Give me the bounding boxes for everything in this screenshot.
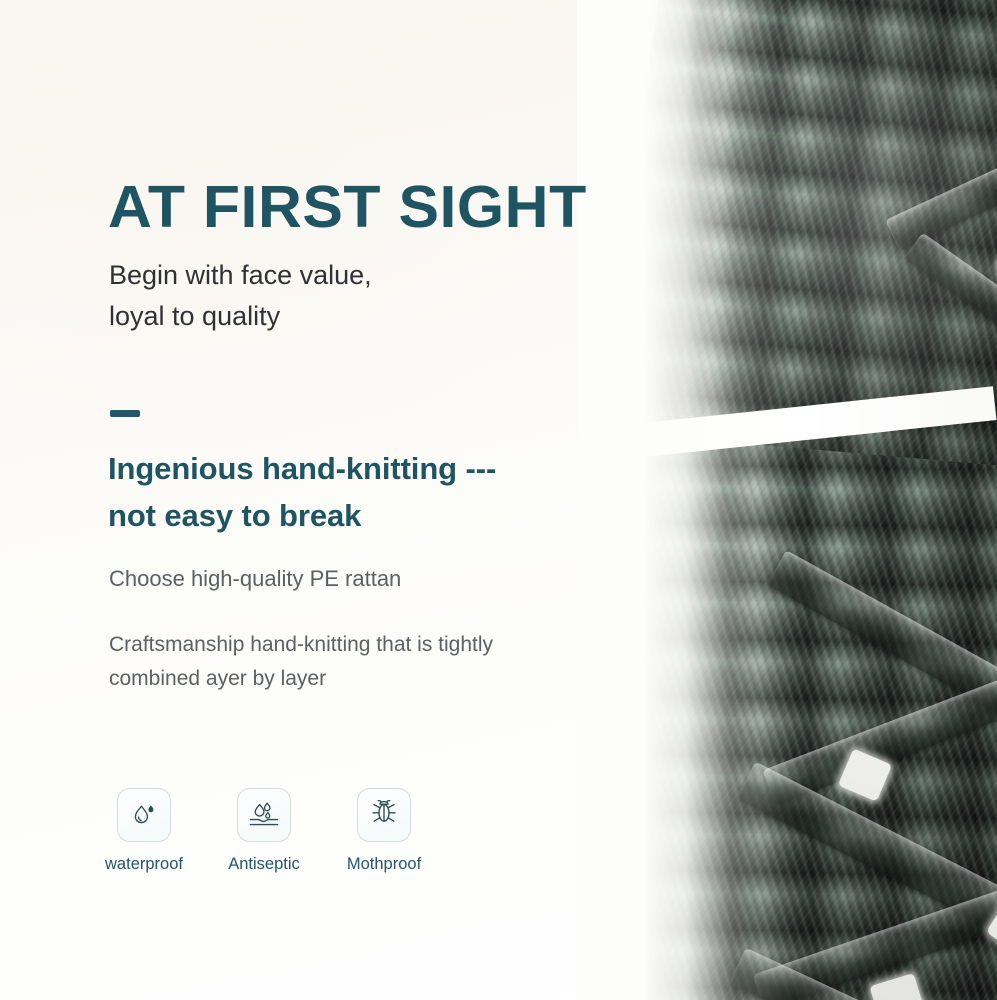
feature-badge-list: waterproof Antiseptic xyxy=(108,788,420,874)
feature-icon-box xyxy=(237,788,291,842)
feature-badge-antiseptic: Antiseptic xyxy=(228,788,300,874)
section-body-second: Craftsmanship hand-knitting that is tigh… xyxy=(109,628,629,696)
feature-label: waterproof xyxy=(105,855,183,874)
feature-badge-mothproof: Mothproof xyxy=(348,788,420,874)
text-column: AT FIRST SIGHT Begin with face value, lo… xyxy=(108,0,668,1000)
section-heading: Ingenious hand-knitting --- not easy to … xyxy=(108,445,496,539)
page-title: AT FIRST SIGHT xyxy=(108,178,587,237)
section-body-second-line-2: combined ayer by layer xyxy=(109,662,629,696)
drops-over-water-icon xyxy=(248,800,280,830)
feature-icon-box xyxy=(357,788,411,842)
feature-badge-waterproof: waterproof xyxy=(108,788,180,874)
section-body-second-line-1: Craftsmanship hand-knitting that is tigh… xyxy=(109,628,629,662)
feature-label: Antiseptic xyxy=(228,855,300,874)
feature-icon-box xyxy=(117,788,171,842)
feature-label: Mothproof xyxy=(347,855,421,874)
bug-icon xyxy=(370,800,398,830)
product-feature-panel: AT FIRST SIGHT Begin with face value, lo… xyxy=(0,0,997,1000)
section-heading-line-1: Ingenious hand-knitting --- xyxy=(108,445,496,492)
water-drop-icon xyxy=(129,800,159,830)
subtitle: Begin with face value, loyal to quality xyxy=(109,255,372,337)
section-divider-rule xyxy=(110,410,140,417)
subtitle-line-2: loyal to quality xyxy=(109,296,372,337)
section-body-first: Choose high-quality PE rattan xyxy=(109,562,401,595)
subtitle-line-1: Begin with face value, xyxy=(109,255,372,296)
section-heading-line-2: not easy to break xyxy=(108,492,496,539)
